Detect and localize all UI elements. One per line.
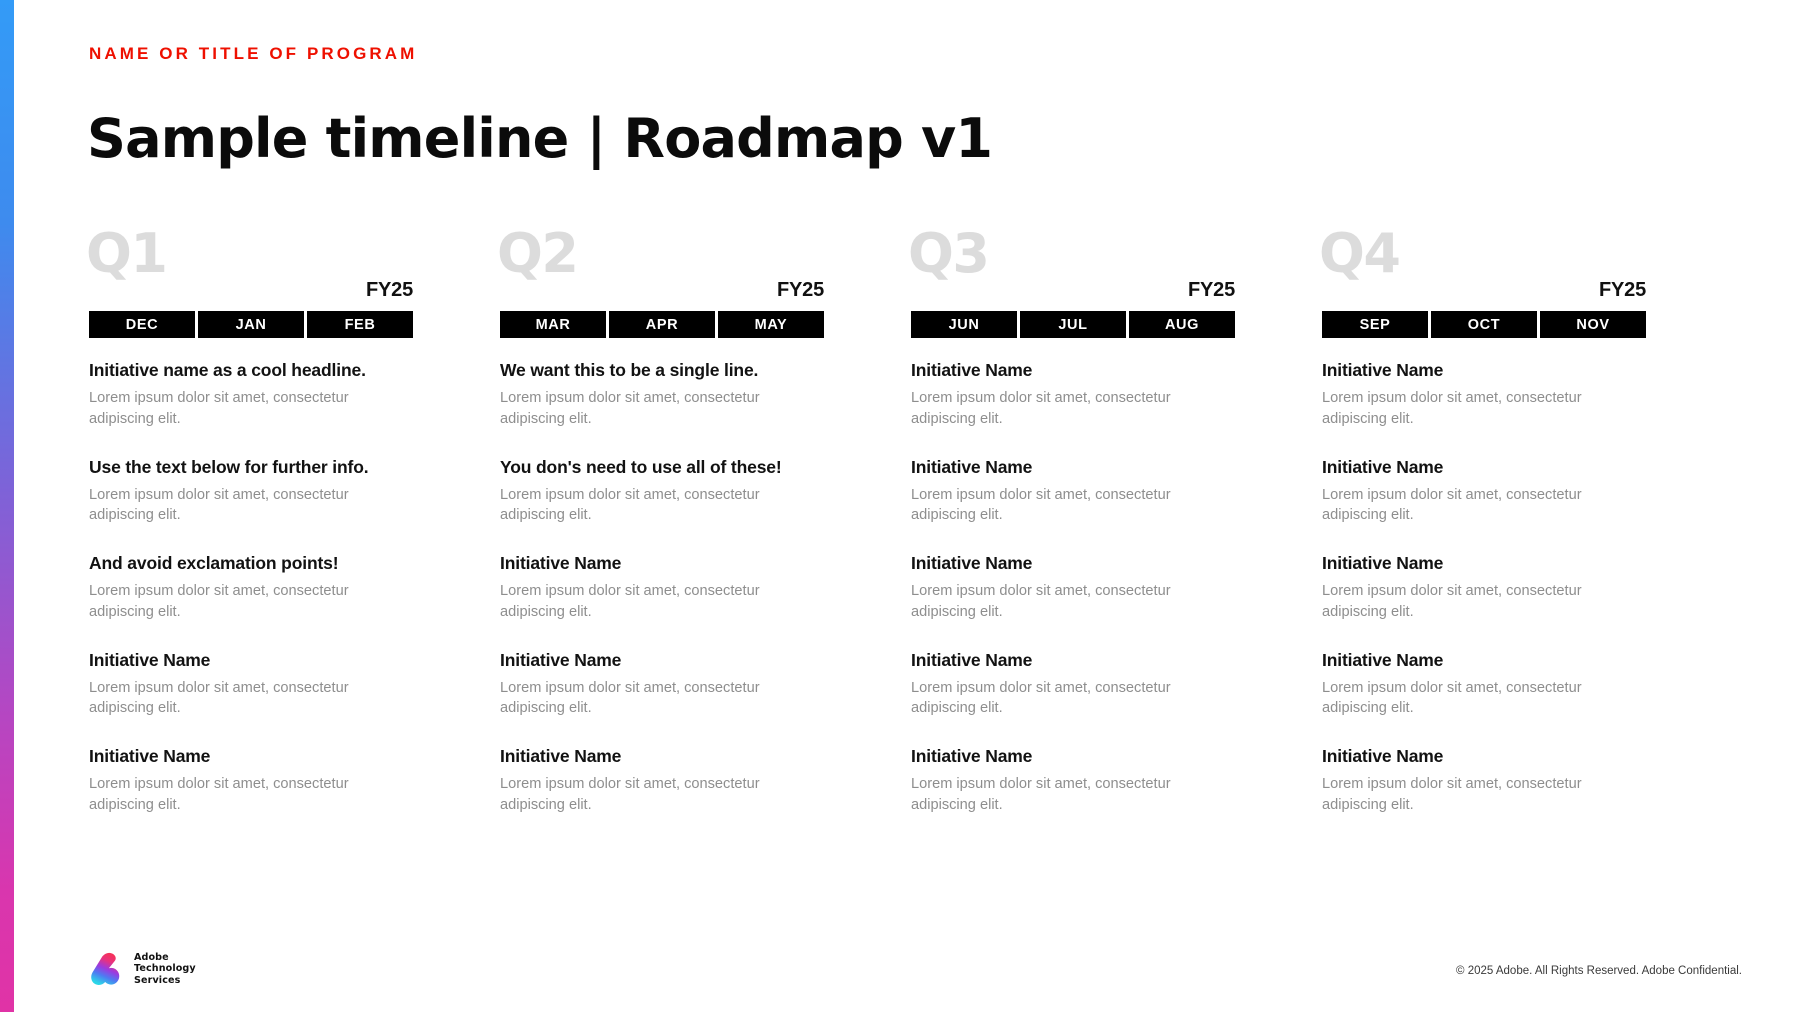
initiative-description: Lorem ipsum dolor sit amet, consectetur … [89, 678, 379, 719]
initiative-title: Initiative Name [911, 649, 1247, 671]
initiative-description: Lorem ipsum dolor sit amet, consectetur … [1322, 678, 1612, 719]
initiative-title: Initiative Name [500, 649, 836, 671]
month-cell[interactable]: AUG [1129, 311, 1235, 338]
initiative-title: Initiative name as a cool headline. [89, 359, 425, 381]
initiative-item[interactable]: We want this to be a single line.Lorem i… [500, 359, 836, 429]
month-cell[interactable]: JAN [198, 311, 304, 338]
initiative-title: Initiative Name [500, 552, 836, 574]
month-cell[interactable]: OCT [1431, 311, 1537, 338]
initiative-description: Lorem ipsum dolor sit amet, consectetur … [1322, 485, 1612, 526]
initiative-description: Lorem ipsum dolor sit amet, consectetur … [89, 774, 379, 815]
fiscal-year-label: FY25 [1599, 279, 1646, 302]
month-cell[interactable]: MAY [718, 311, 824, 338]
month-cell[interactable]: APR [609, 311, 715, 338]
initiative-item[interactable]: Initiative NameLorem ipsum dolor sit ame… [500, 552, 836, 622]
initiative-list: Initiative NameLorem ipsum dolor sit ame… [911, 359, 1247, 815]
initiative-item[interactable]: Initiative NameLorem ipsum dolor sit ame… [1322, 359, 1658, 429]
initiative-title: Initiative Name [911, 359, 1247, 381]
month-bar: DECJANFEB [89, 311, 413, 338]
initiative-title: Initiative Name [1322, 359, 1658, 381]
initiative-description: Lorem ipsum dolor sit amet, consectetur … [89, 388, 379, 429]
fiscal-year-label: FY25 [1188, 279, 1235, 302]
initiative-item[interactable]: Use the text below for further info.Lore… [89, 456, 425, 526]
initiative-item[interactable]: Initiative NameLorem ipsum dolor sit ame… [911, 745, 1247, 815]
initiative-description: Lorem ipsum dolor sit amet, consectetur … [500, 581, 790, 622]
initiative-item[interactable]: Initiative NameLorem ipsum dolor sit ame… [911, 359, 1247, 429]
month-cell[interactable]: JUL [1020, 311, 1126, 338]
initiative-item[interactable]: Initiative NameLorem ipsum dolor sit ame… [911, 649, 1247, 719]
initiative-title: Initiative Name [911, 552, 1247, 574]
left-gradient-accent-bar [0, 0, 14, 1012]
initiative-description: Lorem ipsum dolor sit amet, consectetur … [500, 485, 790, 526]
month-bar: JUNJULAUG [911, 311, 1235, 338]
month-cell[interactable]: FEB [307, 311, 413, 338]
initiative-description: Lorem ipsum dolor sit amet, consectetur … [89, 485, 379, 526]
initiative-item[interactable]: Initiative NameLorem ipsum dolor sit ame… [89, 649, 425, 719]
quarter-label: Q1 [86, 227, 166, 281]
initiative-title: Use the text below for further info. [89, 456, 425, 478]
fiscal-year-label: FY25 [777, 279, 824, 302]
initiative-item[interactable]: Initiative NameLorem ipsum dolor sit ame… [911, 456, 1247, 526]
initiative-description: Lorem ipsum dolor sit amet, consectetur … [911, 485, 1201, 526]
initiative-description: Lorem ipsum dolor sit amet, consectetur … [89, 581, 379, 622]
initiative-item[interactable]: Initiative NameLorem ipsum dolor sit ame… [500, 745, 836, 815]
initiative-description: Lorem ipsum dolor sit amet, consectetur … [1322, 388, 1612, 429]
initiative-title: You don's need to use all of these! [500, 456, 836, 478]
initiative-title: Initiative Name [500, 745, 836, 767]
footer-logo-text: Adobe Technology Services [134, 952, 196, 986]
initiative-item[interactable]: And avoid exclamation points!Lorem ipsum… [89, 552, 425, 622]
footer-logo: Adobe Technology Services [89, 952, 196, 986]
initiative-title: We want this to be a single line. [500, 359, 836, 381]
initiative-title: Initiative Name [89, 649, 425, 671]
initiative-item[interactable]: Initiative NameLorem ipsum dolor sit ame… [1322, 745, 1658, 815]
slide-canvas: NAME OR TITLE OF PROGRAM Sample timeline… [0, 0, 1800, 1012]
initiative-description: Lorem ipsum dolor sit amet, consectetur … [1322, 774, 1612, 815]
initiative-title: Initiative Name [911, 745, 1247, 767]
initiative-description: Lorem ipsum dolor sit amet, consectetur … [500, 678, 790, 719]
initiative-item[interactable]: Initiative NameLorem ipsum dolor sit ame… [911, 552, 1247, 622]
page-title: Sample timeline | Roadmap v1 [87, 110, 992, 168]
initiative-item[interactable]: Initiative NameLorem ipsum dolor sit ame… [1322, 456, 1658, 526]
initiative-description: Lorem ipsum dolor sit amet, consectetur … [500, 774, 790, 815]
month-bar: MARAPRMAY [500, 311, 824, 338]
month-cell[interactable]: DEC [89, 311, 195, 338]
initiative-item[interactable]: Initiative NameLorem ipsum dolor sit ame… [1322, 552, 1658, 622]
month-cell[interactable]: MAR [500, 311, 606, 338]
fiscal-year-label: FY25 [366, 279, 413, 302]
initiative-title: Initiative Name [1322, 649, 1658, 671]
initiative-description: Lorem ipsum dolor sit amet, consectetur … [911, 774, 1201, 815]
initiative-description: Lorem ipsum dolor sit amet, consectetur … [911, 678, 1201, 719]
initiative-title: Initiative Name [1322, 552, 1658, 574]
copyright-notice: © 2025 Adobe. All Rights Reserved. Adobe… [1456, 965, 1742, 977]
initiative-description: Lorem ipsum dolor sit amet, consectetur … [500, 388, 790, 429]
initiative-title: Initiative Name [1322, 456, 1658, 478]
program-eyebrow-label: NAME OR TITLE OF PROGRAM [89, 44, 417, 64]
adobe-technology-services-blob-logo-icon [89, 952, 125, 986]
initiative-item[interactable]: Initiative NameLorem ipsum dolor sit ame… [1322, 649, 1658, 719]
month-cell[interactable]: NOV [1540, 311, 1646, 338]
initiative-title: Initiative Name [1322, 745, 1658, 767]
initiative-list: Initiative NameLorem ipsum dolor sit ame… [1322, 359, 1658, 815]
initiative-description: Lorem ipsum dolor sit amet, consectetur … [911, 388, 1201, 429]
initiative-list: Initiative name as a cool headline.Lorem… [89, 359, 425, 815]
month-cell[interactable]: SEP [1322, 311, 1428, 338]
initiative-title: Initiative Name [89, 745, 425, 767]
initiative-description: Lorem ipsum dolor sit amet, consectetur … [1322, 581, 1612, 622]
quarter-label: Q2 [497, 227, 577, 281]
month-bar: SEPOCTNOV [1322, 311, 1646, 338]
initiative-description: Lorem ipsum dolor sit amet, consectetur … [911, 581, 1201, 622]
initiative-list: We want this to be a single line.Lorem i… [500, 359, 836, 815]
initiative-title: Initiative Name [911, 456, 1247, 478]
initiative-item[interactable]: Initiative NameLorem ipsum dolor sit ame… [500, 649, 836, 719]
initiative-title: And avoid exclamation points! [89, 552, 425, 574]
quarter-label: Q3 [908, 227, 988, 281]
initiative-item[interactable]: Initiative name as a cool headline.Lorem… [89, 359, 425, 429]
month-cell[interactable]: JUN [911, 311, 1017, 338]
initiative-item[interactable]: You don's need to use all of these!Lorem… [500, 456, 836, 526]
quarter-label: Q4 [1319, 227, 1399, 281]
initiative-item[interactable]: Initiative NameLorem ipsum dolor sit ame… [89, 745, 425, 815]
